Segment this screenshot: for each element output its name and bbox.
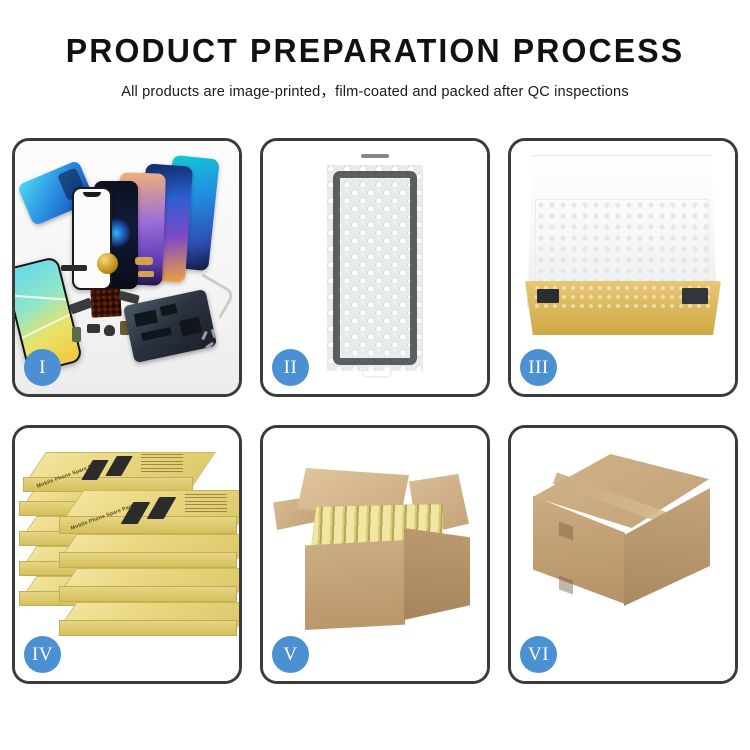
ic-chip-icon bbox=[87, 324, 100, 333]
process-step-panel-6: VI bbox=[508, 425, 738, 684]
step-badge-5: V bbox=[272, 636, 309, 673]
earpiece-component-icon bbox=[61, 265, 87, 271]
step-badge-2: II bbox=[272, 349, 309, 386]
process-step-panel-5: V bbox=[260, 425, 490, 684]
gold-connector-icon bbox=[135, 257, 153, 265]
process-step-panel-4: Mobile Phone Spare Parts Mobile Phone Sp… bbox=[12, 425, 242, 684]
phone-glass-icon bbox=[333, 171, 417, 365]
process-step-panel-3: III bbox=[508, 138, 738, 397]
phone-screen-blank bbox=[72, 187, 112, 290]
box-side-surface bbox=[59, 620, 237, 636]
process-steps-grid: I II III bbox=[12, 138, 738, 684]
process-step-panel-2: II bbox=[260, 138, 490, 397]
kraft-box-top: Mobile Phone Spare Parts bbox=[23, 452, 193, 492]
step-badge-4: IV bbox=[24, 636, 61, 673]
page-subtitle: All products are image-printed，film-coat… bbox=[0, 80, 750, 101]
box-spec-lines bbox=[141, 454, 183, 474]
bubble-wrap-icon bbox=[327, 165, 423, 371]
box-side-surface bbox=[59, 586, 237, 602]
kraft-box-front-3 bbox=[59, 602, 237, 636]
flex-cable-right-icon bbox=[118, 291, 140, 305]
box-spec-lines bbox=[185, 494, 227, 514]
kraft-box-front-1 bbox=[59, 534, 237, 568]
kraft-box-front-2 bbox=[59, 568, 237, 602]
step-badge-1: I bbox=[24, 349, 61, 386]
carton-front-face bbox=[305, 540, 405, 630]
gold-connector-small-icon bbox=[138, 271, 154, 277]
speaker-component-icon bbox=[97, 253, 118, 274]
page-title: PRODUCT PREPARATION PROCESS bbox=[11, 34, 739, 69]
step-badge-3: III bbox=[520, 349, 557, 386]
screws-icon bbox=[201, 329, 229, 351]
vibrator-motor-icon bbox=[104, 325, 115, 336]
battery-connector-icon bbox=[72, 327, 81, 342]
chip-array-icon bbox=[90, 288, 121, 318]
wrapped-screen-in-box-icon bbox=[533, 284, 713, 310]
product-preparation-page: PRODUCT PREPARATION PROCESS All products… bbox=[0, 0, 750, 750]
box-side-surface bbox=[59, 552, 237, 568]
page-header: PRODUCT PREPARATION PROCESS All products… bbox=[0, 0, 750, 101]
carton-side-face bbox=[404, 528, 470, 620]
process-step-panel-1: I bbox=[12, 138, 242, 397]
step-badge-6: VI bbox=[520, 636, 557, 673]
kraft-box-second: Mobile Phone Spare Parts bbox=[59, 490, 237, 534]
flex-cable-left-icon bbox=[69, 298, 93, 315]
